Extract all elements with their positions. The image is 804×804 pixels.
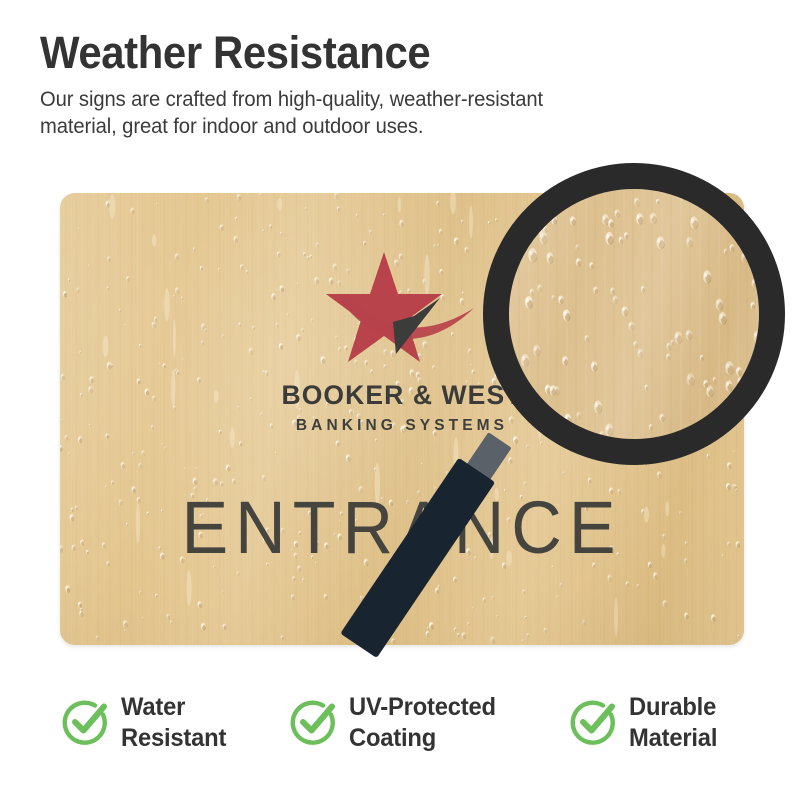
check-circle-icon bbox=[290, 697, 338, 745]
sign-panel: BOOKER & WEST BANKING SYSTEMS ENTRANCE bbox=[60, 193, 744, 645]
star-swoosh-icon bbox=[322, 250, 482, 375]
header: Weather Resistance Our signs are crafted… bbox=[40, 28, 720, 140]
feature-label: UV-Protected Coating bbox=[349, 692, 496, 754]
feature-label: Water Resistant bbox=[121, 692, 226, 754]
sign-brand-name: BOOKER & WEST bbox=[230, 380, 574, 411]
sign-brand-tagline: BANKING SYSTEMS bbox=[230, 417, 574, 435]
feature-item-durable-material: Durable Material bbox=[570, 692, 722, 754]
feature-label: Durable Material bbox=[629, 692, 717, 754]
weather-resistance-infographic: Weather Resistance Our signs are crafted… bbox=[0, 0, 804, 804]
page-title: Weather Resistance bbox=[40, 28, 672, 78]
subtitle-line-2: material, great for indoor and outdoor u… bbox=[40, 113, 698, 140]
check-circle-icon bbox=[62, 697, 110, 745]
feature-item-uv-protected-coating: UV-Protected Coating bbox=[290, 692, 504, 754]
subtitle-line-1: Our signs are crafted from high-quality,… bbox=[40, 86, 698, 113]
feature-item-water-resistant: Water Resistant bbox=[62, 692, 232, 754]
feature-list: Water Resistant UV-Protected Coating Dur… bbox=[0, 692, 804, 772]
sign-message: ENTRANCE bbox=[60, 485, 744, 570]
sign-logo: BOOKER & WEST BANKING SYSTEMS bbox=[230, 250, 574, 450]
sign-product-image: BOOKER & WEST BANKING SYSTEMS ENTRANCE bbox=[60, 193, 744, 645]
check-circle-icon bbox=[570, 697, 618, 745]
page-subtitle: Our signs are crafted from high-quality,… bbox=[40, 86, 698, 140]
